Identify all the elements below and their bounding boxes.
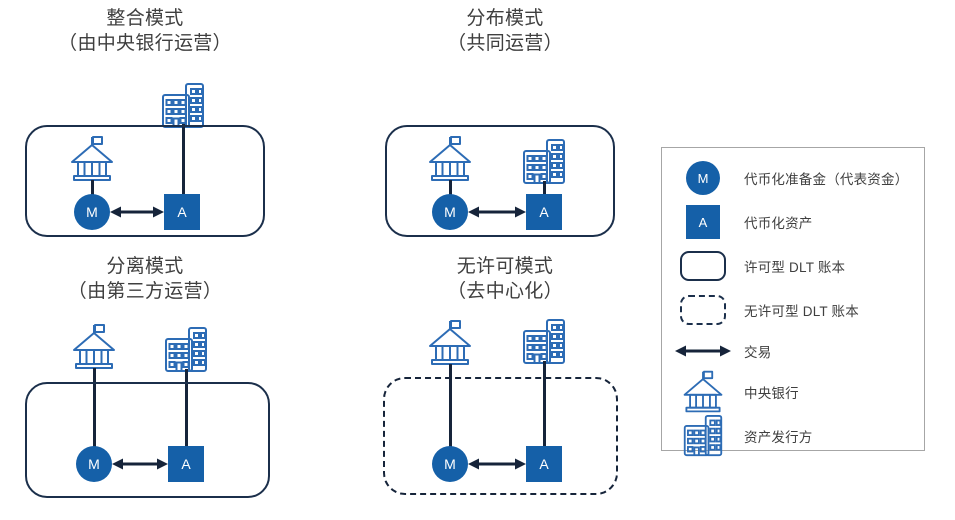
legend-item-asset-issuer: 资产发行方 xyxy=(662,414,926,458)
panel-title-line2: （由中央银行运营） xyxy=(30,31,260,56)
tokenized-reserve-node: M xyxy=(432,194,468,230)
legend-item-transaction: 交易 xyxy=(662,332,926,370)
tokenized-asset-node: A xyxy=(164,194,200,230)
asset-issuer-icon xyxy=(160,82,206,130)
asset-issuer-icon xyxy=(521,138,567,186)
asset-label: A xyxy=(539,204,548,220)
tokenized-reserve-node: M xyxy=(432,446,468,482)
legend-label: 代币化准备金（代表资金） xyxy=(744,168,908,188)
permissionless-ledger-box-icon xyxy=(662,295,744,325)
legend-label: 资产发行方 xyxy=(744,426,813,446)
asset-label: A xyxy=(539,456,548,472)
legend-panel: M 代币化准备金（代表资金） A 代币化资产 许可型 DLT 账本 无许可型 D… xyxy=(661,147,925,451)
legend-label: 代币化资产 xyxy=(744,212,813,232)
reserve-label: M xyxy=(88,456,100,472)
tokenized-reserve-node: M xyxy=(74,194,110,230)
asset-label: A xyxy=(177,204,186,220)
legend-badge-a: A xyxy=(699,215,708,230)
diagram-canvas: 整合模式 （由中央银行运营） xyxy=(0,0,955,520)
panel-title-line1: 整合模式 xyxy=(30,6,260,31)
central-bank-icon xyxy=(424,320,476,370)
tokenized-asset-node: A xyxy=(526,194,562,230)
asset-label: A xyxy=(181,456,190,472)
panel-title-integrated: 整合模式 （由中央银行运营） xyxy=(30,6,260,56)
tokenized-asset-node: A xyxy=(526,446,562,482)
legend-label: 交易 xyxy=(744,341,771,361)
reserve-label: M xyxy=(444,204,456,220)
double-arrow-icon xyxy=(110,203,164,221)
tokenized-reserve-node: M xyxy=(76,446,112,482)
permissioned-ledger-box-icon xyxy=(662,251,744,281)
reserve-label: M xyxy=(86,204,98,220)
central-bank-icon xyxy=(424,136,476,186)
central-bank-icon xyxy=(66,136,118,186)
double-arrow-icon xyxy=(468,455,526,473)
panel-title-distributed: 分布模式 （共同运营） xyxy=(390,6,620,56)
panel-title-line1: 分离模式 xyxy=(30,254,260,279)
legend-item-permissioned-ledger: 许可型 DLT 账本 xyxy=(662,244,926,288)
legend-badge-m: M xyxy=(698,171,709,186)
panel-title-permissionless: 无许可模式 （去中心化） xyxy=(390,254,620,304)
panel-title-separated: 分离模式 （由第三方运营） xyxy=(30,254,260,304)
asset-issuer-icon xyxy=(163,326,209,374)
tokenized-asset-node: A xyxy=(168,446,204,482)
double-arrow-icon xyxy=(468,203,526,221)
panel-title-line1: 分布模式 xyxy=(390,6,620,31)
central-bank-icon xyxy=(68,324,120,374)
panel-title-line1: 无许可模式 xyxy=(390,254,620,279)
asset-issuer-icon xyxy=(521,318,567,366)
tokenized-reserve-circle-icon: M xyxy=(662,161,744,195)
asset-issuer-icon xyxy=(662,414,744,458)
panel-title-line2: （共同运营） xyxy=(390,31,620,56)
double-arrow-icon xyxy=(662,342,744,360)
legend-item-tokenized-reserve: M 代币化准备金（代表资金） xyxy=(662,156,926,200)
legend-label: 中央银行 xyxy=(744,382,799,402)
legend-label: 许可型 DLT 账本 xyxy=(744,256,845,276)
double-arrow-icon xyxy=(112,455,168,473)
permissionless-ledger-box xyxy=(383,377,618,495)
panel-title-line2: （由第三方运营） xyxy=(30,279,260,304)
legend-label: 无许可型 DLT 账本 xyxy=(744,300,859,320)
permissioned-ledger-box-separated xyxy=(25,382,270,498)
reserve-label: M xyxy=(444,456,456,472)
tokenized-asset-square-icon: A xyxy=(662,205,744,239)
panel-title-line2: （去中心化） xyxy=(390,279,620,304)
legend-item-tokenized-asset: A 代币化资产 xyxy=(662,200,926,244)
legend-item-central-bank: 中央银行 xyxy=(662,370,926,414)
legend-item-permissionless-ledger: 无许可型 DLT 账本 xyxy=(662,288,926,332)
central-bank-icon xyxy=(662,370,744,414)
